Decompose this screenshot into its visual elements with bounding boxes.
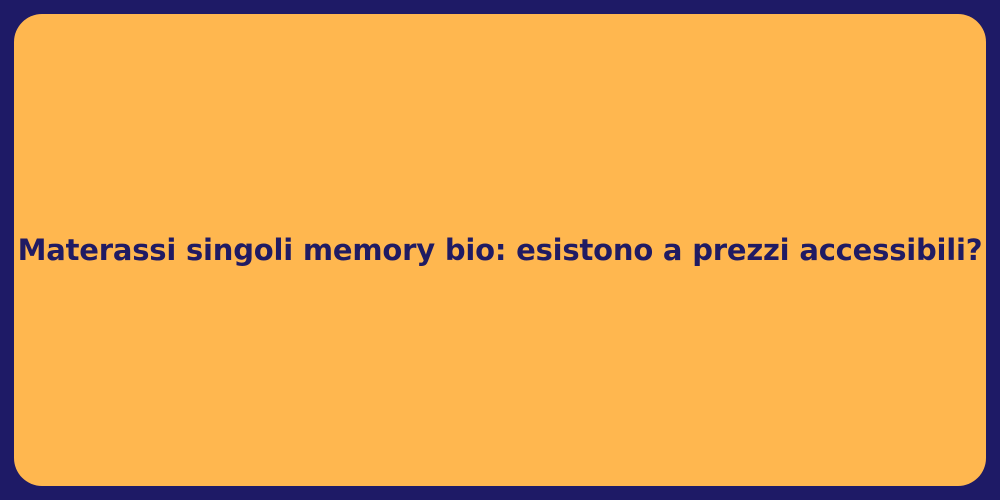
banner-card: Materassi singoli memory bio: esistono a…: [14, 14, 986, 486]
banner-headline: Materassi singoli memory bio: esistono a…: [18, 232, 983, 268]
banner-frame: Materassi singoli memory bio: esistono a…: [0, 0, 1000, 500]
